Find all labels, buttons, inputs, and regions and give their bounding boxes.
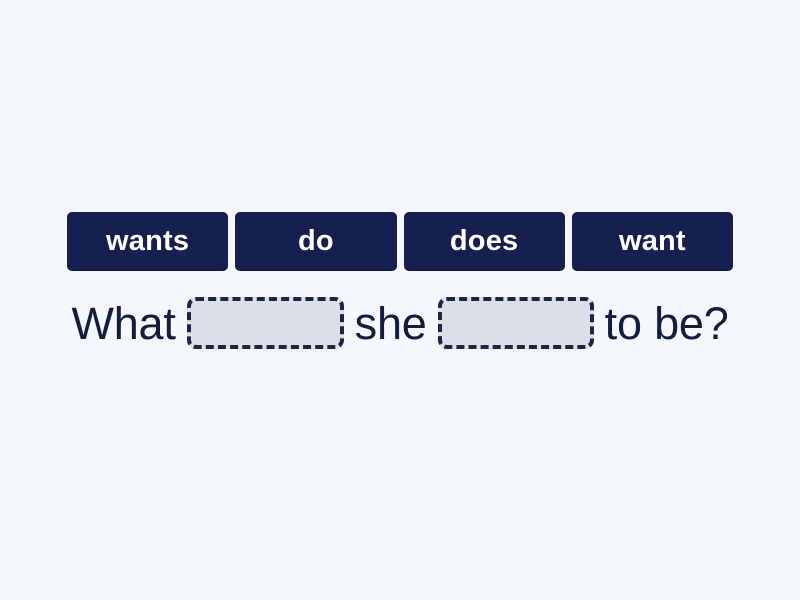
activity-canvas: wants do does want What she to be? <box>0 0 800 600</box>
sentence-word-to-be: to be? <box>605 301 729 346</box>
word-tile-do[interactable]: do <box>235 212 396 270</box>
word-tile-label: want <box>619 227 686 256</box>
word-tile-label: do <box>298 227 334 256</box>
word-tile-does[interactable]: does <box>404 212 565 270</box>
sentence-with-blanks: What she to be? <box>0 290 800 356</box>
sentence-word-what: What <box>71 301 175 346</box>
blank-slot-2[interactable] <box>438 297 594 349</box>
word-tile-label: does <box>450 227 519 256</box>
blank-slot-1[interactable] <box>187 297 344 349</box>
word-tile-want[interactable]: want <box>572 212 733 270</box>
word-tile-wants[interactable]: wants <box>67 212 228 270</box>
word-bank: wants do does want <box>67 212 733 270</box>
sentence-word-she: she <box>355 301 427 346</box>
word-tile-label: wants <box>106 227 189 256</box>
